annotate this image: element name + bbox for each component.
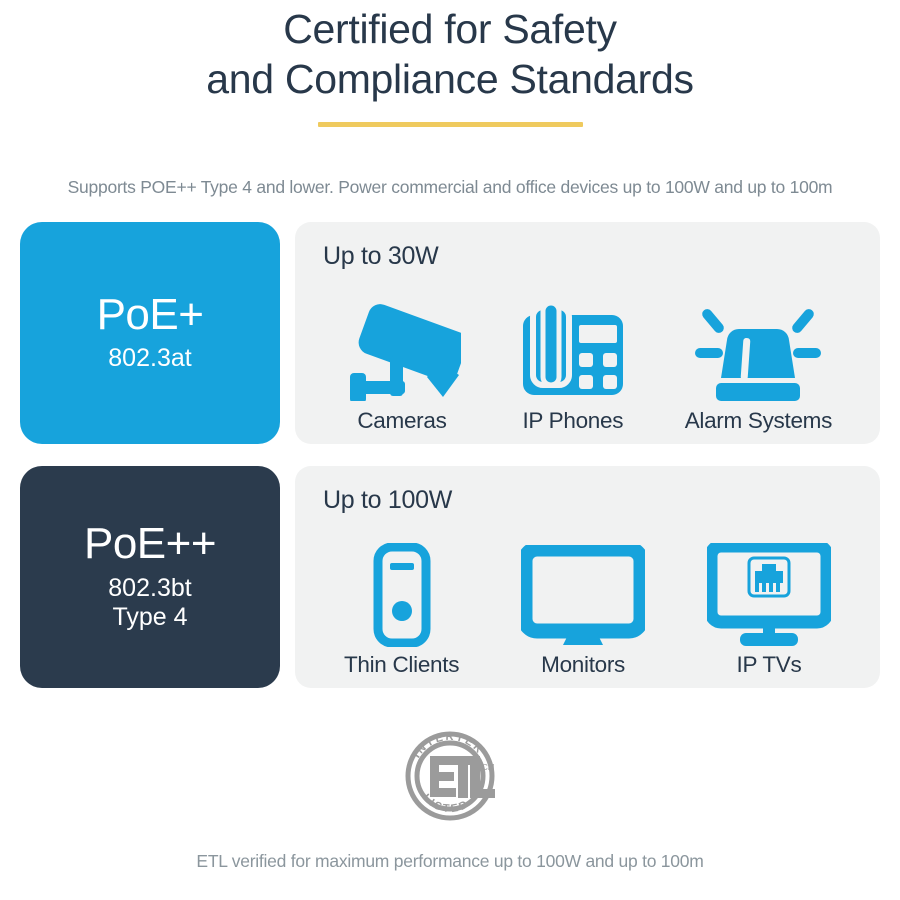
device-item-ip-phones: IP Phones xyxy=(521,296,625,434)
device-item-thin-clients: Thin Clients xyxy=(344,540,459,678)
footer-caption: ETL verified for maximum performance up … xyxy=(0,851,900,872)
tier-name-label: PoE+ xyxy=(97,292,204,338)
page-title-line-2: and Compliance Standards xyxy=(0,54,900,104)
ip-tv-icon xyxy=(707,540,831,650)
supports-description: Supports POE++ Type 4 and lower. Power c… xyxy=(0,177,900,198)
page-title-line-1: Certified for Safety xyxy=(0,4,900,54)
monitor-icon xyxy=(521,540,645,650)
tier-standard-label: 802.3at xyxy=(108,344,191,374)
tier-card-poe-plus: PoE+ 802.3at xyxy=(20,222,280,444)
thin-client-icon xyxy=(373,540,431,650)
device-label: Cameras xyxy=(357,408,446,434)
device-item-monitors: Monitors xyxy=(521,540,645,678)
tier-row-poe-plus-plus: PoE++ 802.3bt Type 4 Up to 100W Thin Cli… xyxy=(20,466,880,688)
device-list: Cameras xyxy=(313,275,862,434)
device-label: Thin Clients xyxy=(344,652,459,678)
page-header: Certified for Safety and Compliance Stan… xyxy=(0,0,900,127)
tier-standard-label: 802.3bt Type 4 xyxy=(108,574,191,633)
etl-logo-mark-text: CM xyxy=(482,763,495,772)
device-item-cameras: Cameras xyxy=(343,296,461,434)
devices-panel-poe-plus-plus: Up to 100W Thin Clients xyxy=(295,466,880,688)
poe-tier-rows: PoE+ 802.3at Up to 30W xyxy=(0,222,900,688)
device-label: Alarm Systems xyxy=(685,408,832,434)
tier-card-poe-plus-plus: PoE++ 802.3bt Type 4 xyxy=(20,466,280,688)
etl-intertek-listed-logo: INTERTEK LISTED CM xyxy=(394,720,506,837)
security-camera-icon xyxy=(343,296,461,406)
page-footer: INTERTEK LISTED CM ETL verified for maxi… xyxy=(0,720,900,872)
device-item-alarm-systems: Alarm Systems xyxy=(685,296,832,434)
ip-phone-icon xyxy=(521,296,625,406)
tier-name-label: PoE++ xyxy=(84,521,216,567)
alarm-siren-icon xyxy=(695,296,821,406)
device-label: IP Phones xyxy=(522,408,623,434)
devices-panel-poe-plus: Up to 30W xyxy=(295,222,880,444)
device-label: IP TVs xyxy=(737,652,802,678)
device-item-ip-tvs: IP TVs xyxy=(707,540,831,678)
device-list: Thin Clients Monitors xyxy=(313,519,862,678)
wattage-label: Up to 100W xyxy=(323,486,862,515)
wattage-label: Up to 30W xyxy=(323,242,862,271)
tier-row-poe-plus: PoE+ 802.3at Up to 30W xyxy=(20,222,880,444)
device-label: Monitors xyxy=(541,652,625,678)
title-underline-divider xyxy=(318,122,583,127)
